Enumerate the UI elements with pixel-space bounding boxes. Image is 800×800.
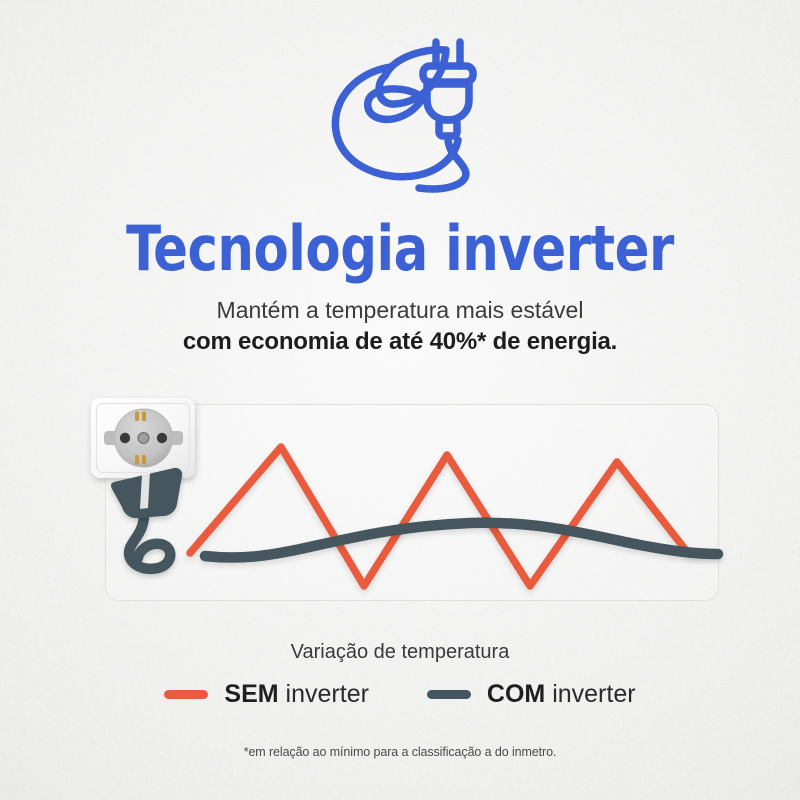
legend-swatch-sem	[164, 690, 208, 699]
legend-title: Variação de temperatura	[0, 641, 800, 664]
chart-legend: SEM inverter COM inverter	[0, 680, 800, 709]
legend-label-com: COM inverter	[487, 680, 636, 709]
power-cable	[129, 514, 170, 569]
eco-plug-icon	[315, 28, 485, 196]
legend-sem-inverter: SEM inverter	[164, 680, 369, 709]
series-sem-inverter-line	[190, 447, 716, 586]
legend-swatch-com	[427, 690, 471, 699]
wall-socket-illustration	[78, 386, 228, 586]
subtitle-line-2: com economia de até 40%* de energia.	[0, 328, 800, 356]
footnote: *em relação ao mínimo para a classificaç…	[0, 745, 800, 759]
legend-label-sem: SEM inverter	[224, 680, 369, 709]
legend-com-inverter: COM inverter	[427, 680, 636, 709]
eco-plug-icon-container	[0, 28, 800, 196]
page-title: Tecnologia inverter	[32, 218, 768, 280]
series-com-inverter-line	[205, 523, 718, 558]
subtitle-line-1: Mantém a temperatura mais estável	[0, 297, 800, 324]
